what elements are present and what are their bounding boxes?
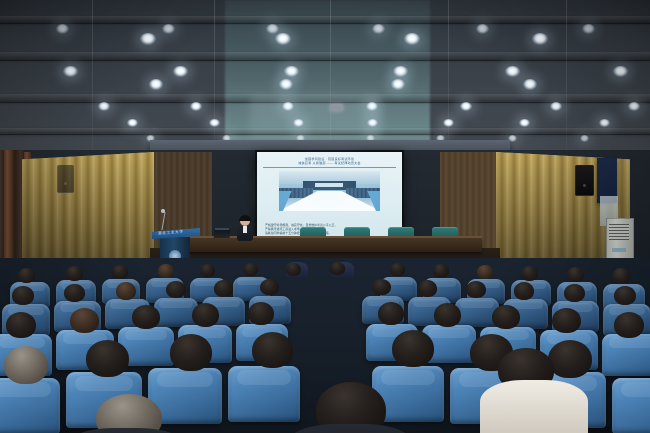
air-conditioner-grille-icon <box>609 224 629 240</box>
audience-head-25 <box>564 284 585 302</box>
ceiling-rib-5 <box>566 0 567 168</box>
downlight-r1-c2 <box>162 24 175 34</box>
audience-head-2 <box>66 266 83 281</box>
audience-head-4 <box>158 264 174 278</box>
audience-head-33 <box>434 303 461 327</box>
audience-shoulders-3 <box>70 428 182 433</box>
downlight-r6-c1 <box>127 119 138 128</box>
downlight-r3-c1 <box>63 66 78 78</box>
downlight-r5-c7 <box>628 102 640 111</box>
presenter-shirt <box>243 226 247 233</box>
slide-photo-stage-screen <box>315 183 343 187</box>
downlight-r4-c1 <box>149 79 163 90</box>
audience-head-32 <box>378 302 404 325</box>
audience-head-35 <box>552 308 581 333</box>
laptop <box>214 230 231 238</box>
audience-head-22 <box>418 280 437 297</box>
downlight-r1-c4 <box>372 24 385 34</box>
auditorium-photo: 加强学风建设 · 营造良好考试环境 诚信应考 从我做起 —— 考试纪律动员大会 … <box>0 0 650 433</box>
downlight-r6-c7 <box>599 119 610 128</box>
audience-head-24 <box>514 282 534 300</box>
seat-r4-4 <box>228 366 300 422</box>
audience-head-12 <box>521 266 538 281</box>
seated-presenter <box>237 216 253 240</box>
projection-screen: 加强学风建设 · 营造良好考试环境 诚信应考 从我做起 —— 考试纪律动员大会 … <box>255 150 404 242</box>
loudspeaker-icon-right <box>575 165 594 196</box>
downlight-r3-c5 <box>505 66 520 78</box>
audience-head-18 <box>166 281 186 298</box>
ceiling-rib-1 <box>92 0 93 168</box>
audience-head-19 <box>214 280 233 297</box>
loudspeaker-icon-left <box>57 165 74 193</box>
downlight-r3-c6 <box>613 66 628 78</box>
audience-head-36 <box>614 312 644 338</box>
downlight-r4-c3 <box>391 79 405 90</box>
downlight-r6-c6 <box>519 119 530 128</box>
slide-accent-rule <box>263 167 396 168</box>
audience-head-23 <box>466 281 486 298</box>
downlight-r6-c2 <box>209 119 220 128</box>
audience-head-14 <box>612 268 630 284</box>
audience-head-40 <box>252 332 293 368</box>
projector-icon <box>330 104 343 111</box>
audience-head-43 <box>548 340 592 378</box>
seat-r4-1 <box>0 378 60 433</box>
audience-head-41 <box>392 330 434 367</box>
audience-head-31 <box>248 302 274 325</box>
audience-head-37 <box>4 346 48 384</box>
downlight-r5-c1 <box>98 102 110 111</box>
audience-head-39 <box>170 334 212 371</box>
audience-head-17 <box>116 282 136 300</box>
ceiling-beam-2 <box>0 52 650 60</box>
downlight-r5-c2 <box>190 102 202 111</box>
speaker-cone <box>583 184 586 187</box>
downlight-r6-c5 <box>443 119 454 128</box>
audience-head-13 <box>567 267 584 282</box>
microphone-icon <box>161 209 165 213</box>
seat-r4-8 <box>612 378 650 433</box>
downlight-r5-c6 <box>550 102 562 111</box>
audience-head-28 <box>70 308 99 333</box>
audience-head-30 <box>192 303 219 327</box>
downlight-r7-c7 <box>580 135 589 142</box>
audience-head-1 <box>18 268 35 283</box>
audience-head-21 <box>372 279 391 295</box>
seat-r3-10 <box>602 334 650 376</box>
slide-photo <box>279 171 380 211</box>
audience-head-16 <box>64 284 85 302</box>
slide-content: 加强学风建设 · 营造良好考试环境 诚信应考 从我做起 —— 考试纪律动员大会 … <box>257 152 402 240</box>
audience-head-27 <box>6 312 36 338</box>
audience-head-6 <box>243 263 258 276</box>
downlight-r1-c6 <box>582 24 595 34</box>
audience-head-7 <box>286 263 301 276</box>
ceiling-beam-1 <box>0 16 650 23</box>
speaker-cone <box>64 182 67 185</box>
seating-area <box>0 258 650 433</box>
downlight-r1-c5 <box>476 24 489 34</box>
presidium-table <box>172 238 482 252</box>
downlight-r4-c4 <box>523 79 537 90</box>
downlight-r3-c3 <box>284 66 299 78</box>
audience-shoulders-2 <box>290 424 410 433</box>
downlight-r3-c2 <box>173 66 188 78</box>
audience-head-8 <box>330 262 345 275</box>
audience-head-11 <box>477 265 493 279</box>
downlight-r5-c5 <box>460 102 472 111</box>
audience-head-15 <box>12 286 34 305</box>
downlight-r3-c4 <box>393 66 408 78</box>
air-conditioner-badge <box>612 248 626 252</box>
audience-head-38 <box>86 340 129 377</box>
audience-head-26 <box>614 286 636 305</box>
audience-head-20 <box>260 279 279 295</box>
audience-shoulders-1 <box>480 380 588 433</box>
ceiling-beam-edge-2 <box>0 60 650 61</box>
downlight-r2-c1 <box>140 33 156 45</box>
audience-head-29 <box>132 305 160 329</box>
audience-head-34 <box>492 305 520 329</box>
slide-caption: 严格遵守考场规则，诚实守信，自觉维护考试公平公正， 严禁携带通讯工具进入考场，违… <box>265 223 394 235</box>
downlight-r4-c2 <box>279 79 293 90</box>
slide-title-line-2: 诚信应考 从我做起 —— 考试纪律动员大会 <box>298 161 360 165</box>
ceiling-beam-edge-1 <box>0 23 650 24</box>
audience-head-9 <box>390 263 405 276</box>
presenter-hair <box>239 215 251 221</box>
downlight-r1-c3 <box>266 24 279 34</box>
downlight-r2-c4 <box>532 33 548 45</box>
audience-head-10 <box>433 264 449 278</box>
curtain-left-shading <box>22 152 154 274</box>
audience-head-3 <box>112 265 128 279</box>
audience-head-5 <box>200 264 215 277</box>
slide-title: 加强学风建设 · 营造良好考试环境 诚信应考 从我做起 —— 考试纪律动员大会 <box>265 157 394 166</box>
downlight-r1-c1 <box>56 24 69 34</box>
